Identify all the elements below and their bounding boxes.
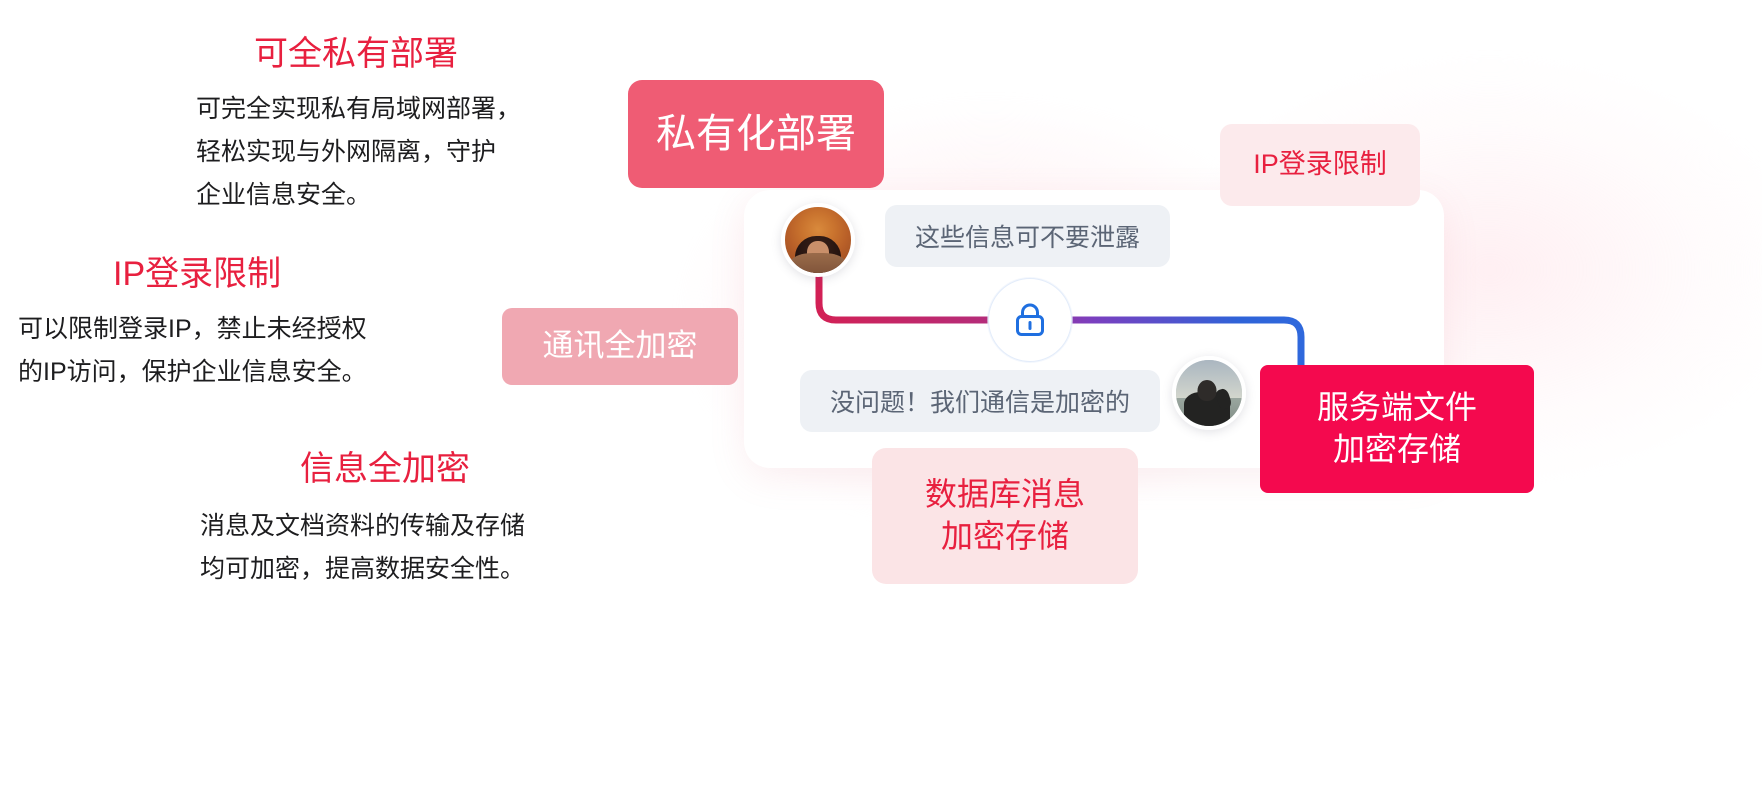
- feature-title-ip-restriction: IP登录限制: [113, 253, 367, 296]
- feature-private-deploy: 可全私有部署 可完全实现私有局域网部署， 轻松实现与外网隔离，守护 企业信息安全…: [196, 33, 521, 217]
- chat-bubble-outgoing: 没问题！我们通信是加密的: [800, 370, 1160, 432]
- feature-full-encryption: 信息全加密 消息及文档资料的传输及存储 均可加密，提高数据安全性。: [200, 448, 525, 591]
- feature-body-line: 可以限制登录IP，禁止未经授权: [18, 308, 367, 351]
- feature-title-private-deploy: 可全私有部署: [254, 33, 521, 76]
- feature-title-full-encryption: 信息全加密: [300, 448, 525, 491]
- feature-body-line: 均可加密，提高数据安全性。: [200, 548, 525, 591]
- badge-comm-encrypted: 通讯全加密: [502, 308, 738, 385]
- badge-server-file-encrypted-storage: 服务端文件 加密存储: [1260, 365, 1534, 493]
- infographic-root: 可全私有部署 可完全实现私有局域网部署， 轻松实现与外网隔离，守护 企业信息安全…: [0, 0, 1762, 806]
- feature-body-private-deploy: 可完全实现私有局域网部署， 轻松实现与外网隔离，守护 企业信息安全。: [196, 88, 521, 217]
- avatar-male: [1172, 356, 1246, 430]
- chat-illustration: 这些信息可不要泄露 没问题！我们通信是加密的 私有化部署 IP登录限制 通讯全加…: [620, 0, 1762, 806]
- feature-body-full-encryption: 消息及文档资料的传输及存储 均可加密，提高数据安全性。: [200, 505, 525, 591]
- feature-body-ip-restriction: 可以限制登录IP，禁止未经授权 的IP访问，保护企业信息安全。: [18, 308, 367, 394]
- feature-body-line: 可完全实现私有局域网部署，: [196, 88, 521, 131]
- badge-ip-restriction: IP登录限制: [1220, 124, 1420, 206]
- feature-ip-restriction: IP登录限制 可以限制登录IP，禁止未经授权 的IP访问，保护企业信息安全。: [18, 253, 367, 394]
- feature-body-line: 企业信息安全。: [196, 174, 521, 217]
- chat-bubble-incoming: 这些信息可不要泄露: [885, 205, 1170, 267]
- badge-db-encrypted-storage: 数据库消息 加密存储: [872, 448, 1138, 584]
- lock-icon: [1013, 301, 1047, 339]
- lock-badge: [988, 278, 1072, 362]
- avatar-female: [781, 203, 855, 277]
- badge-private-deploy: 私有化部署: [628, 80, 884, 188]
- feature-body-line: 轻松实现与外网隔离，守护: [196, 131, 521, 174]
- feature-body-line: 的IP访问，保护企业信息安全。: [18, 351, 367, 394]
- avatar-head: [1198, 380, 1217, 401]
- feature-body-line: 消息及文档资料的传输及存储: [200, 505, 525, 548]
